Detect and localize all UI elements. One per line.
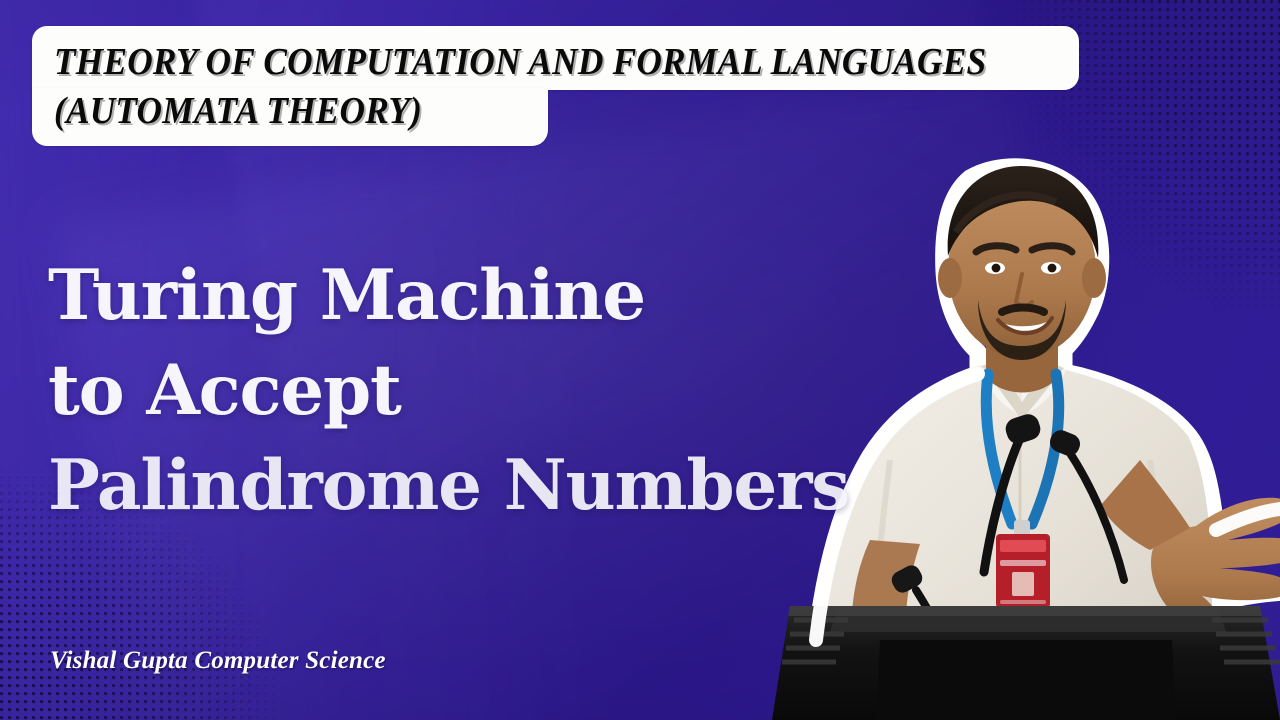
headline-block: Turing Machine to Accept Palindrome Numb…: [48, 248, 908, 533]
course-title-line-1-text: THEORY OF COMPUTATION AND FORMAL LANGUAG…: [54, 43, 986, 81]
headline-line-2: to Accept: [48, 343, 908, 438]
course-title-line-2: (AUTOMATA THEORY): [32, 88, 548, 146]
youtube-thumbnail: Turing Machine to Accept Palindrome Numb…: [0, 0, 1280, 720]
course-title-line-1: THEORY OF COMPUTATION AND FORMAL LANGUAG…: [32, 26, 1079, 90]
channel-credit: Vishal Gupta Computer Science: [50, 647, 386, 675]
course-title-line-2-text: (AUTOMATA THEORY): [54, 92, 422, 130]
course-title-banner: THEORY OF COMPUTATION AND FORMAL LANGUAG…: [32, 26, 1079, 146]
headline-line-1: Turing Machine: [48, 248, 908, 343]
headline-line-3: Palindrome Numbers: [48, 438, 908, 533]
podium: [772, 606, 1280, 720]
